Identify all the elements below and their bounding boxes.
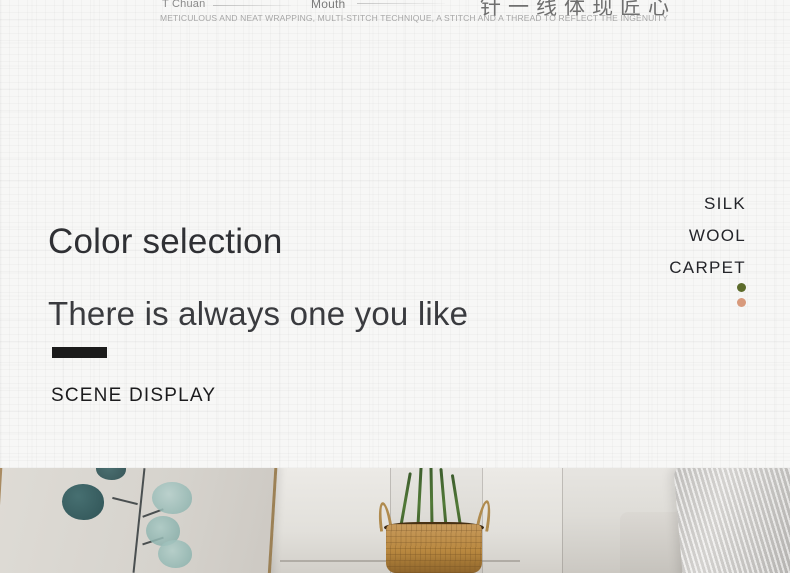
photo-wall-panel — [482, 468, 562, 573]
photo-eucalyptus-leaf — [152, 482, 192, 514]
material-list: SILK WOOL CARPET — [669, 188, 746, 284]
page-title: Color selection — [48, 222, 283, 262]
promo-page: T Chuan Mouth 针一线体现匠心 METICULOUS AND NEA… — [0, 0, 790, 573]
accent-bar-divider — [52, 347, 107, 358]
banner-divider-line-right — [357, 3, 445, 4]
banner-brand-left-label: T Chuan — [162, 0, 205, 10]
terracotta-swatch[interactable] — [737, 298, 746, 307]
banner-brand-mid-label: Mouth — [311, 0, 345, 11]
page-subtitle: There is always one you like — [48, 295, 468, 333]
olive-green-swatch[interactable] — [737, 283, 746, 292]
banner-subtitle-english: METICULOUS AND NEAT WRAPPING, MULTI-STIT… — [160, 13, 668, 23]
top-banner: T Chuan Mouth 针一线体现匠心 METICULOUS AND NEA… — [0, 0, 790, 30]
photo-wall-panel — [268, 468, 390, 573]
material-item-wool[interactable]: WOOL — [669, 220, 746, 252]
photo-woven-basket — [386, 524, 482, 573]
material-item-silk[interactable]: SILK — [669, 188, 746, 220]
scene-display-caption: SCENE DISPLAY — [51, 385, 216, 407]
photo-eucalyptus-leaf — [158, 540, 192, 568]
photo-eucalyptus-leaf — [62, 484, 104, 520]
color-swatch-list — [737, 283, 746, 307]
banner-divider-line-left — [213, 5, 291, 6]
material-item-carpet[interactable]: CARPET — [669, 252, 746, 284]
scene-display-photo — [0, 468, 790, 573]
photo-throw-blanket — [673, 468, 790, 573]
photo-wall-seam — [562, 468, 563, 573]
